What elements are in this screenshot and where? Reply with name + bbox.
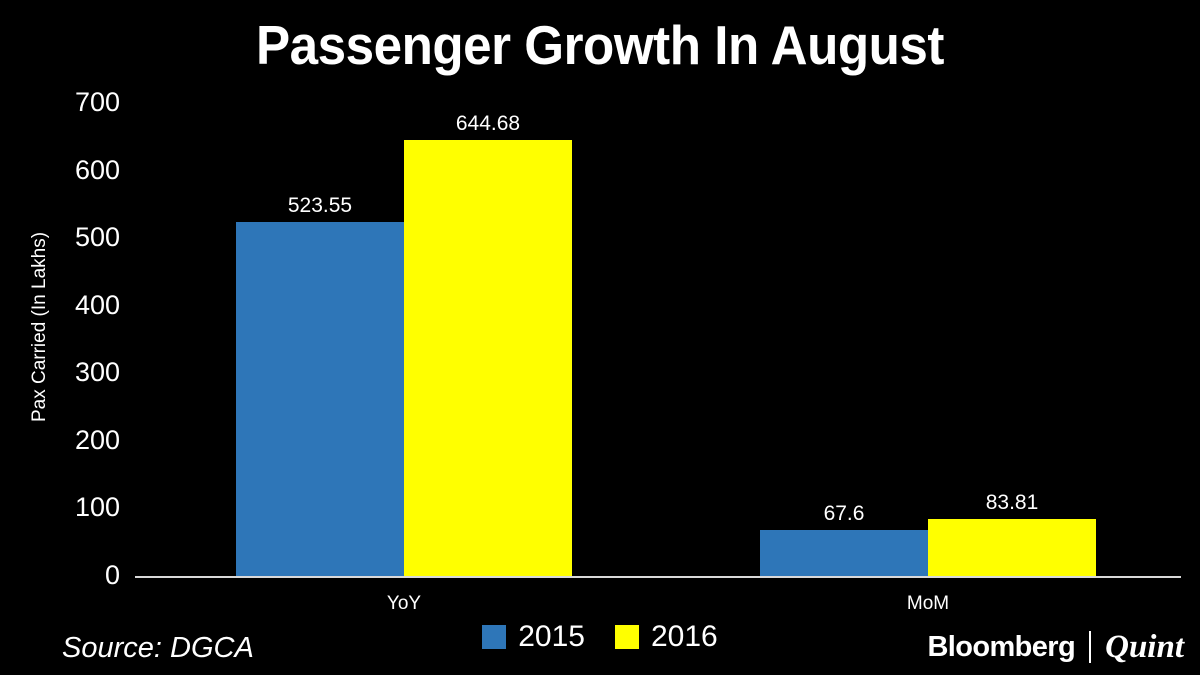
brand-logo: Bloomberg Quint [927, 630, 1184, 664]
legend-swatch-2016 [615, 625, 639, 649]
x-axis-category-label-YoY: YoY [236, 594, 572, 613]
y-axis-tick-label: 300 [20, 359, 120, 386]
chart-title: Passenger Growth In August [42, 12, 1158, 78]
legend-label-2016: 2016 [651, 622, 718, 652]
bar-YoY-2016[interactable] [404, 140, 572, 576]
y-axis-tick-label: 100 [20, 494, 120, 521]
y-axis-tick-label: 400 [20, 292, 120, 319]
legend-label-2015: 2015 [518, 622, 585, 652]
source-note: Source: DGCA [62, 632, 254, 664]
legend-item-2016[interactable]: 2016 [615, 622, 718, 652]
y-axis-tick-label: 600 [20, 157, 120, 184]
bar-YoY-2015[interactable] [236, 222, 404, 576]
legend-item-2015[interactable]: 2015 [482, 622, 585, 652]
bar-value-label-YoY-2015: 523.55 [236, 195, 404, 216]
chart-canvas: Passenger Growth In August Pax Carried (… [0, 0, 1200, 675]
brand-quint-text: Quint [1105, 630, 1184, 664]
bar-MoM-2016[interactable] [928, 519, 1096, 576]
plot-area: 523.55644.68YoY67.683.81MoM [135, 95, 1180, 576]
y-axis-tick-label: 200 [20, 427, 120, 454]
y-axis-tick-label: 700 [20, 89, 120, 116]
bar-MoM-2015[interactable] [760, 530, 928, 576]
brand-bloomberg-text: Bloomberg [927, 630, 1075, 664]
x-axis-category-label-MoM: MoM [760, 594, 1096, 613]
x-axis-line [135, 576, 1181, 578]
bar-value-label-MoM-2016: 83.81 [928, 492, 1096, 513]
bar-value-label-YoY-2016: 644.68 [404, 113, 572, 134]
y-axis-tick-label: 0 [20, 562, 120, 589]
bar-value-label-MoM-2015: 67.6 [760, 503, 928, 524]
legend-swatch-2015 [482, 625, 506, 649]
brand-divider [1089, 631, 1091, 663]
y-axis-tick-label: 500 [20, 224, 120, 251]
